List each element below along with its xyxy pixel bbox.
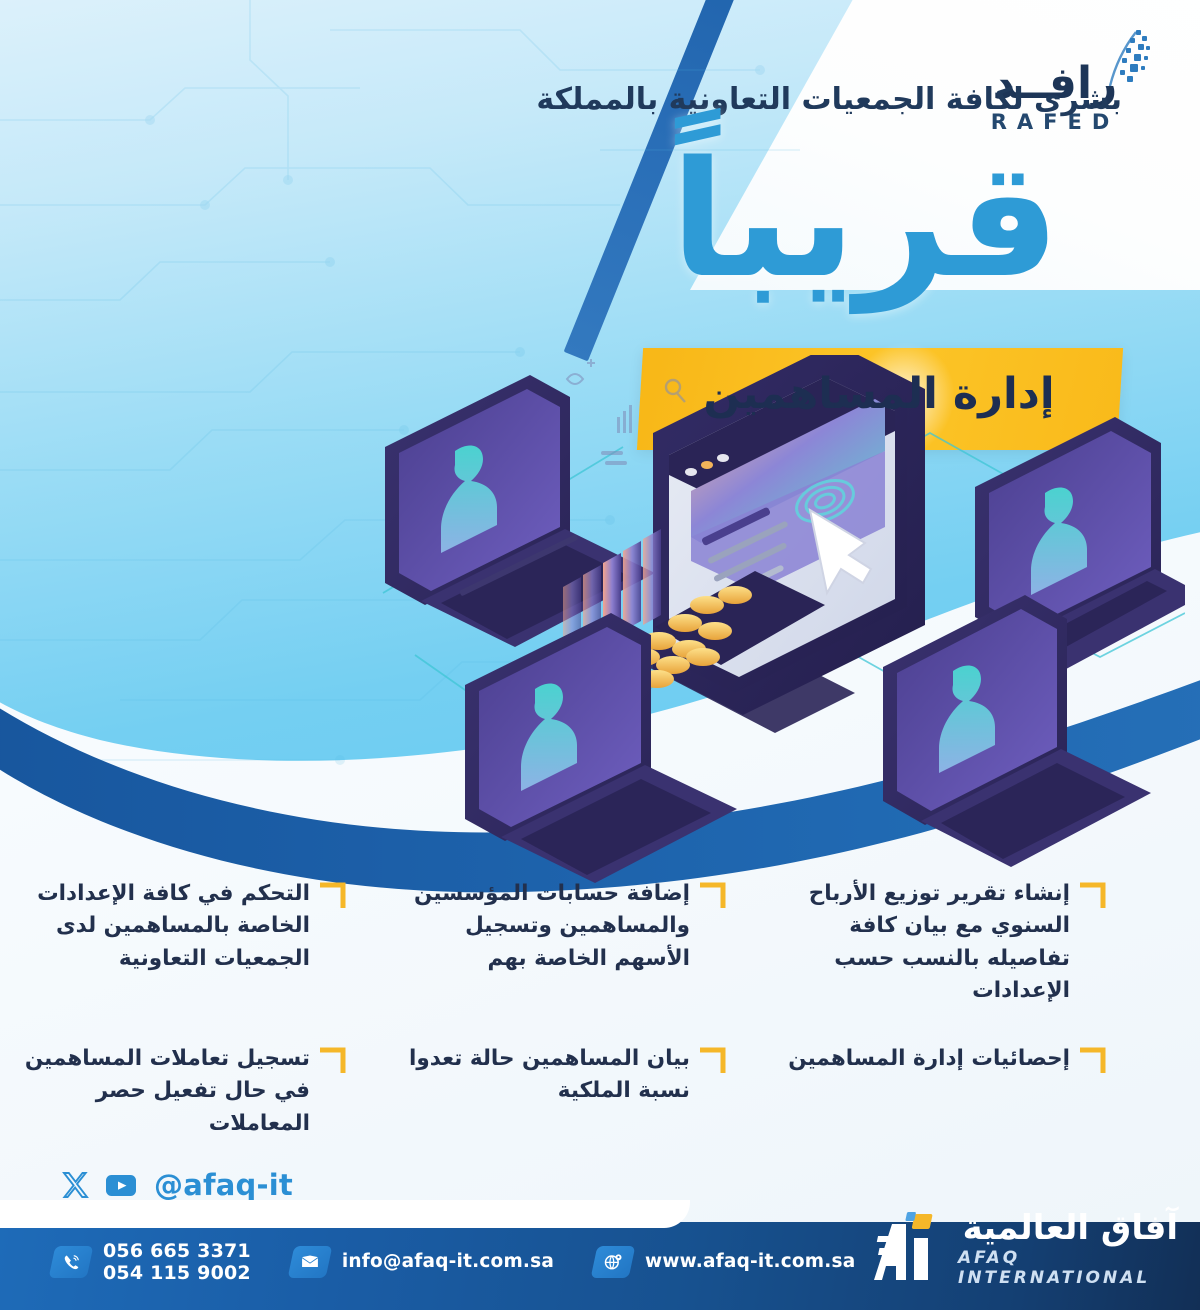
corner-bracket-icon [700,882,726,908]
features-section: التحكم في كافة الإعدادات الخاصة بالمساهم… [0,878,1200,1140]
feature-item-add-accounts: إضافة حسابات المؤسسين والمساهمين وتسجيل … [380,878,760,1007]
website-badge [591,1246,636,1278]
feature-item-settings-control: التحكم في كافة الإعدادات الخاصة بالمساهم… [0,878,380,1007]
social-links: @afaq-it [58,1168,293,1202]
feature-item-statistics: إحصائيات إدارة المساهمين [760,1043,1140,1140]
envelope-icon [300,1252,320,1272]
corner-bracket-icon [1080,1047,1106,1073]
afaq-logo-words: آفاق العالمية AFAQ INTERNATIONAL [958,1210,1178,1288]
feature-text: تسجيل تعاملات المساهمين في حال تفعيل حصر… [18,1043,310,1140]
feature-text: التحكم في كافة الإعدادات الخاصة بالمساهم… [18,878,310,975]
x-twitter-icon[interactable] [58,1168,92,1202]
globe-pin-icon [603,1252,623,1272]
feature-text: إنشاء تقرير توزيع الأرباح السنوي مع بيان… [778,878,1070,1007]
feature-item-profit-report: إنشاء تقرير توزيع الأرباح السنوي مع بيان… [760,878,1140,1007]
isometric-network-illustration [355,355,1185,885]
tagline: بشرى لكافة الجمعيات التعاونية بالمملكة [482,82,1122,117]
footer-notch [0,1200,690,1228]
corner-bracket-icon [1080,882,1106,908]
corner-bracket-icon [320,882,346,908]
corner-bracket-icon [700,1047,726,1073]
footer-website-item: www.afaq-it.com.sa [594,1246,855,1278]
feature-item-ownership-threshold: بيان المساهمين حالة تعدوا نسبة الملكية [380,1043,760,1140]
footer-phone-numbers: 056 665 3371 054 115 9002 [103,1240,251,1285]
poster-canvas: رافــد RAFED بشرى لكافة الجمعيات التعاون… [0,0,1200,1310]
footer-website[interactable]: www.afaq-it.com.sa [645,1251,855,1273]
corner-bracket-icon [320,1047,346,1073]
feature-text: إحصائيات إدارة المساهمين [778,1043,1070,1075]
youtube-icon[interactable] [104,1168,138,1202]
afaq-international-logo: آفاق العالمية AFAQ INTERNATIONAL [862,1196,1178,1302]
subtitle-text: إدارة المساهمين [654,362,1104,427]
phone-badge [49,1246,94,1278]
feature-text: بيان المساهمين حالة تعدوا نسبة الملكية [398,1043,690,1108]
features-row-2: تسجيل تعاملات المساهمين في حال تفعيل حصر… [0,1043,1200,1140]
afaq-company-arabic: آفاق العالمية [963,1210,1178,1247]
feature-text: إضافة حسابات المؤسسين والمساهمين وتسجيل … [398,878,690,975]
footer-email-item: info@afaq-it.com.sa [291,1246,554,1278]
phone-icon [62,1253,81,1272]
footer-phone-item: 056 665 3371 054 115 9002 [52,1240,251,1285]
footer-email[interactable]: info@afaq-it.com.sa [342,1251,554,1273]
footer-contact-items: 056 665 3371 054 115 9002 info@afaq-it.c… [52,1240,855,1285]
afaq-company-english: AFAQ INTERNATIONAL [958,1248,1178,1288]
afaq-logo-mark-icon [862,1208,948,1290]
email-badge [287,1246,332,1278]
feature-item-transactions-log: تسجيل تعاملات المساهمين في حال تفعيل حصر… [0,1043,380,1140]
features-row-1: التحكم في كافة الإعدادات الخاصة بالمساهم… [0,878,1200,1007]
social-handle: @afaq-it [154,1168,293,1202]
headline-soon: قريباً [670,140,1060,300]
